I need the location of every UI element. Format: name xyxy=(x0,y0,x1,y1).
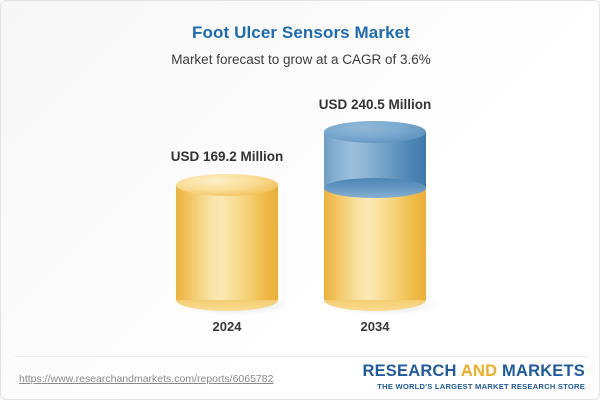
cylinder-2024 xyxy=(176,174,278,311)
cylinder-body-2024 xyxy=(176,185,278,300)
logo-word-research: RESEARCH xyxy=(362,362,456,380)
logo-wordmark: RESEARCH AND MARKETS xyxy=(362,363,585,380)
footer-divider xyxy=(15,356,587,357)
bar-group-2024[interactable]: USD 169.2 Million 2024 xyxy=(176,101,278,316)
category-label-2034: 2034 xyxy=(324,319,426,334)
cylinder-segment-base-2034 xyxy=(324,185,426,300)
bar-value-label-2034: USD 240.5 Million xyxy=(272,97,478,112)
category-label-2024: 2024 xyxy=(176,319,278,334)
cylinder-top-cap-2034 xyxy=(324,121,426,143)
chart-plot-area: USD 169.2 Million 2024 USD 240.5 Million xyxy=(1,1,600,356)
logo-word-and: AND xyxy=(461,362,497,380)
source-url-link[interactable]: https://www.researchandmarkets.com/repor… xyxy=(19,373,273,385)
bar-group-2034[interactable]: USD 240.5 Million 2034 xyxy=(324,101,426,316)
cylinder-segment-divider-2034 xyxy=(324,178,426,198)
research-and-markets-logo[interactable]: RESEARCH AND MARKETS THE WORLD'S LARGEST… xyxy=(362,363,585,391)
chart-card: Foot Ulcer Sensors Market Market forecas… xyxy=(0,0,600,400)
cylinder-2034 xyxy=(324,121,426,311)
logo-word-markets: MARKETS xyxy=(502,362,585,380)
cylinder-top-cap-2024 xyxy=(176,174,278,196)
logo-tagline: THE WORLD'S LARGEST MARKET RESEARCH STOR… xyxy=(362,382,585,391)
bar-value-label-2024: USD 169.2 Million xyxy=(124,149,330,164)
